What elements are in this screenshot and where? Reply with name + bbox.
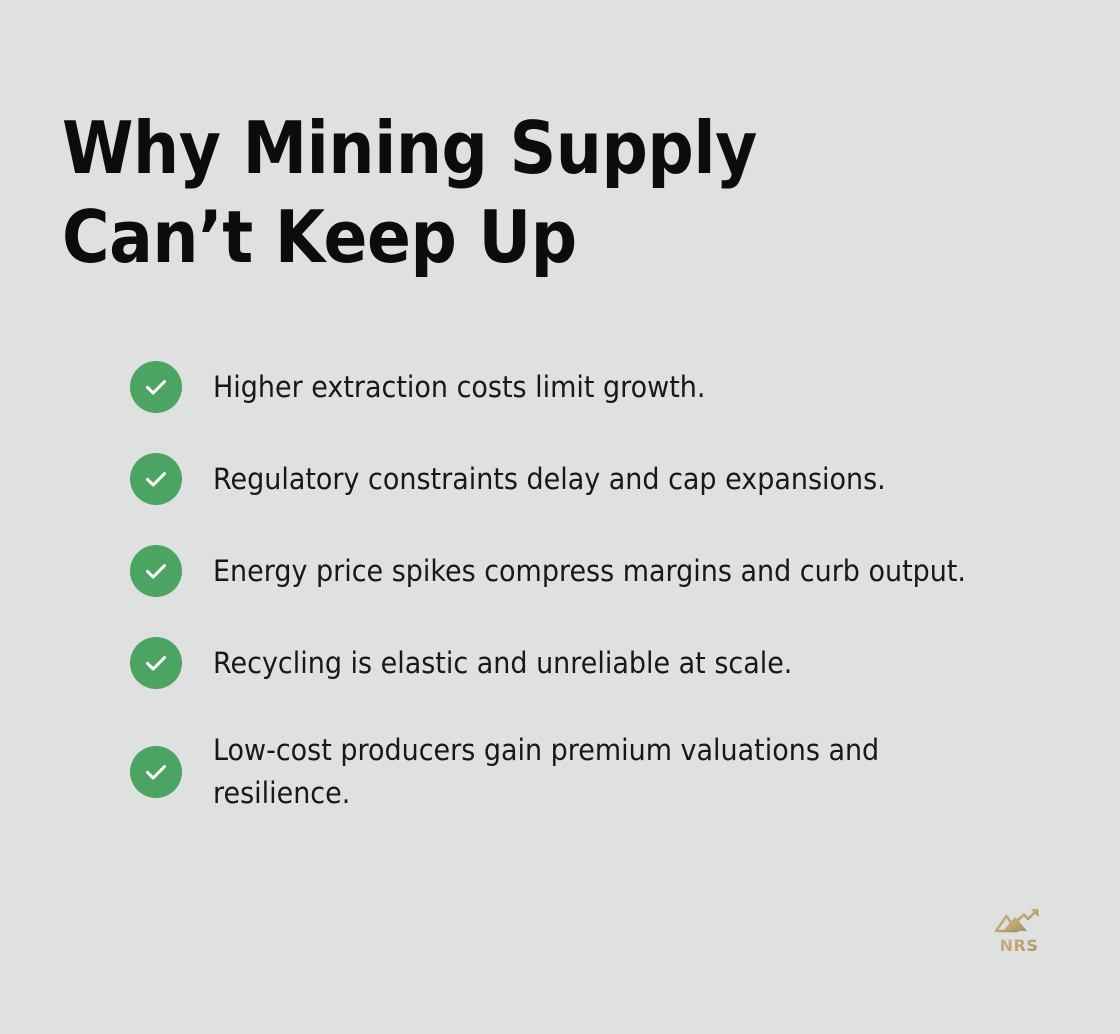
nrs-logo: NRS [993, 903, 1045, 955]
check-circle-icon [130, 545, 182, 597]
list-item-label: Higher extraction costs limit growth. [213, 366, 1019, 409]
list-item-label: Low-cost producers gain premium valuatio… [213, 729, 1019, 815]
benefits-list: Higher extraction costs limit growth. Re… [130, 361, 1080, 815]
list-item-label: Recycling is elastic and unreliable at s… [213, 642, 1019, 685]
check-circle-icon [130, 453, 182, 505]
page-title: Why Mining Supply Can’t Keep Up [62, 104, 940, 282]
list-item-label: Regulatory constraints delay and cap exp… [213, 458, 1019, 501]
check-circle-icon [130, 746, 182, 798]
check-circle-icon [130, 361, 182, 413]
list-item: Energy price spikes compress margins and… [130, 545, 1080, 597]
list-item-label: Energy price spikes compress margins and… [213, 550, 1019, 593]
check-circle-icon [130, 637, 182, 689]
list-item: Low-cost producers gain premium valuatio… [130, 729, 1080, 815]
list-item: Recycling is elastic and unreliable at s… [130, 637, 1080, 689]
list-item: Higher extraction costs limit growth. [130, 361, 1080, 413]
slide-canvas: Why Mining Supply Can’t Keep Up Higher e… [0, 0, 1120, 1034]
list-item: Regulatory constraints delay and cap exp… [130, 453, 1080, 505]
nrs-logo-text: NRS [1000, 936, 1039, 955]
